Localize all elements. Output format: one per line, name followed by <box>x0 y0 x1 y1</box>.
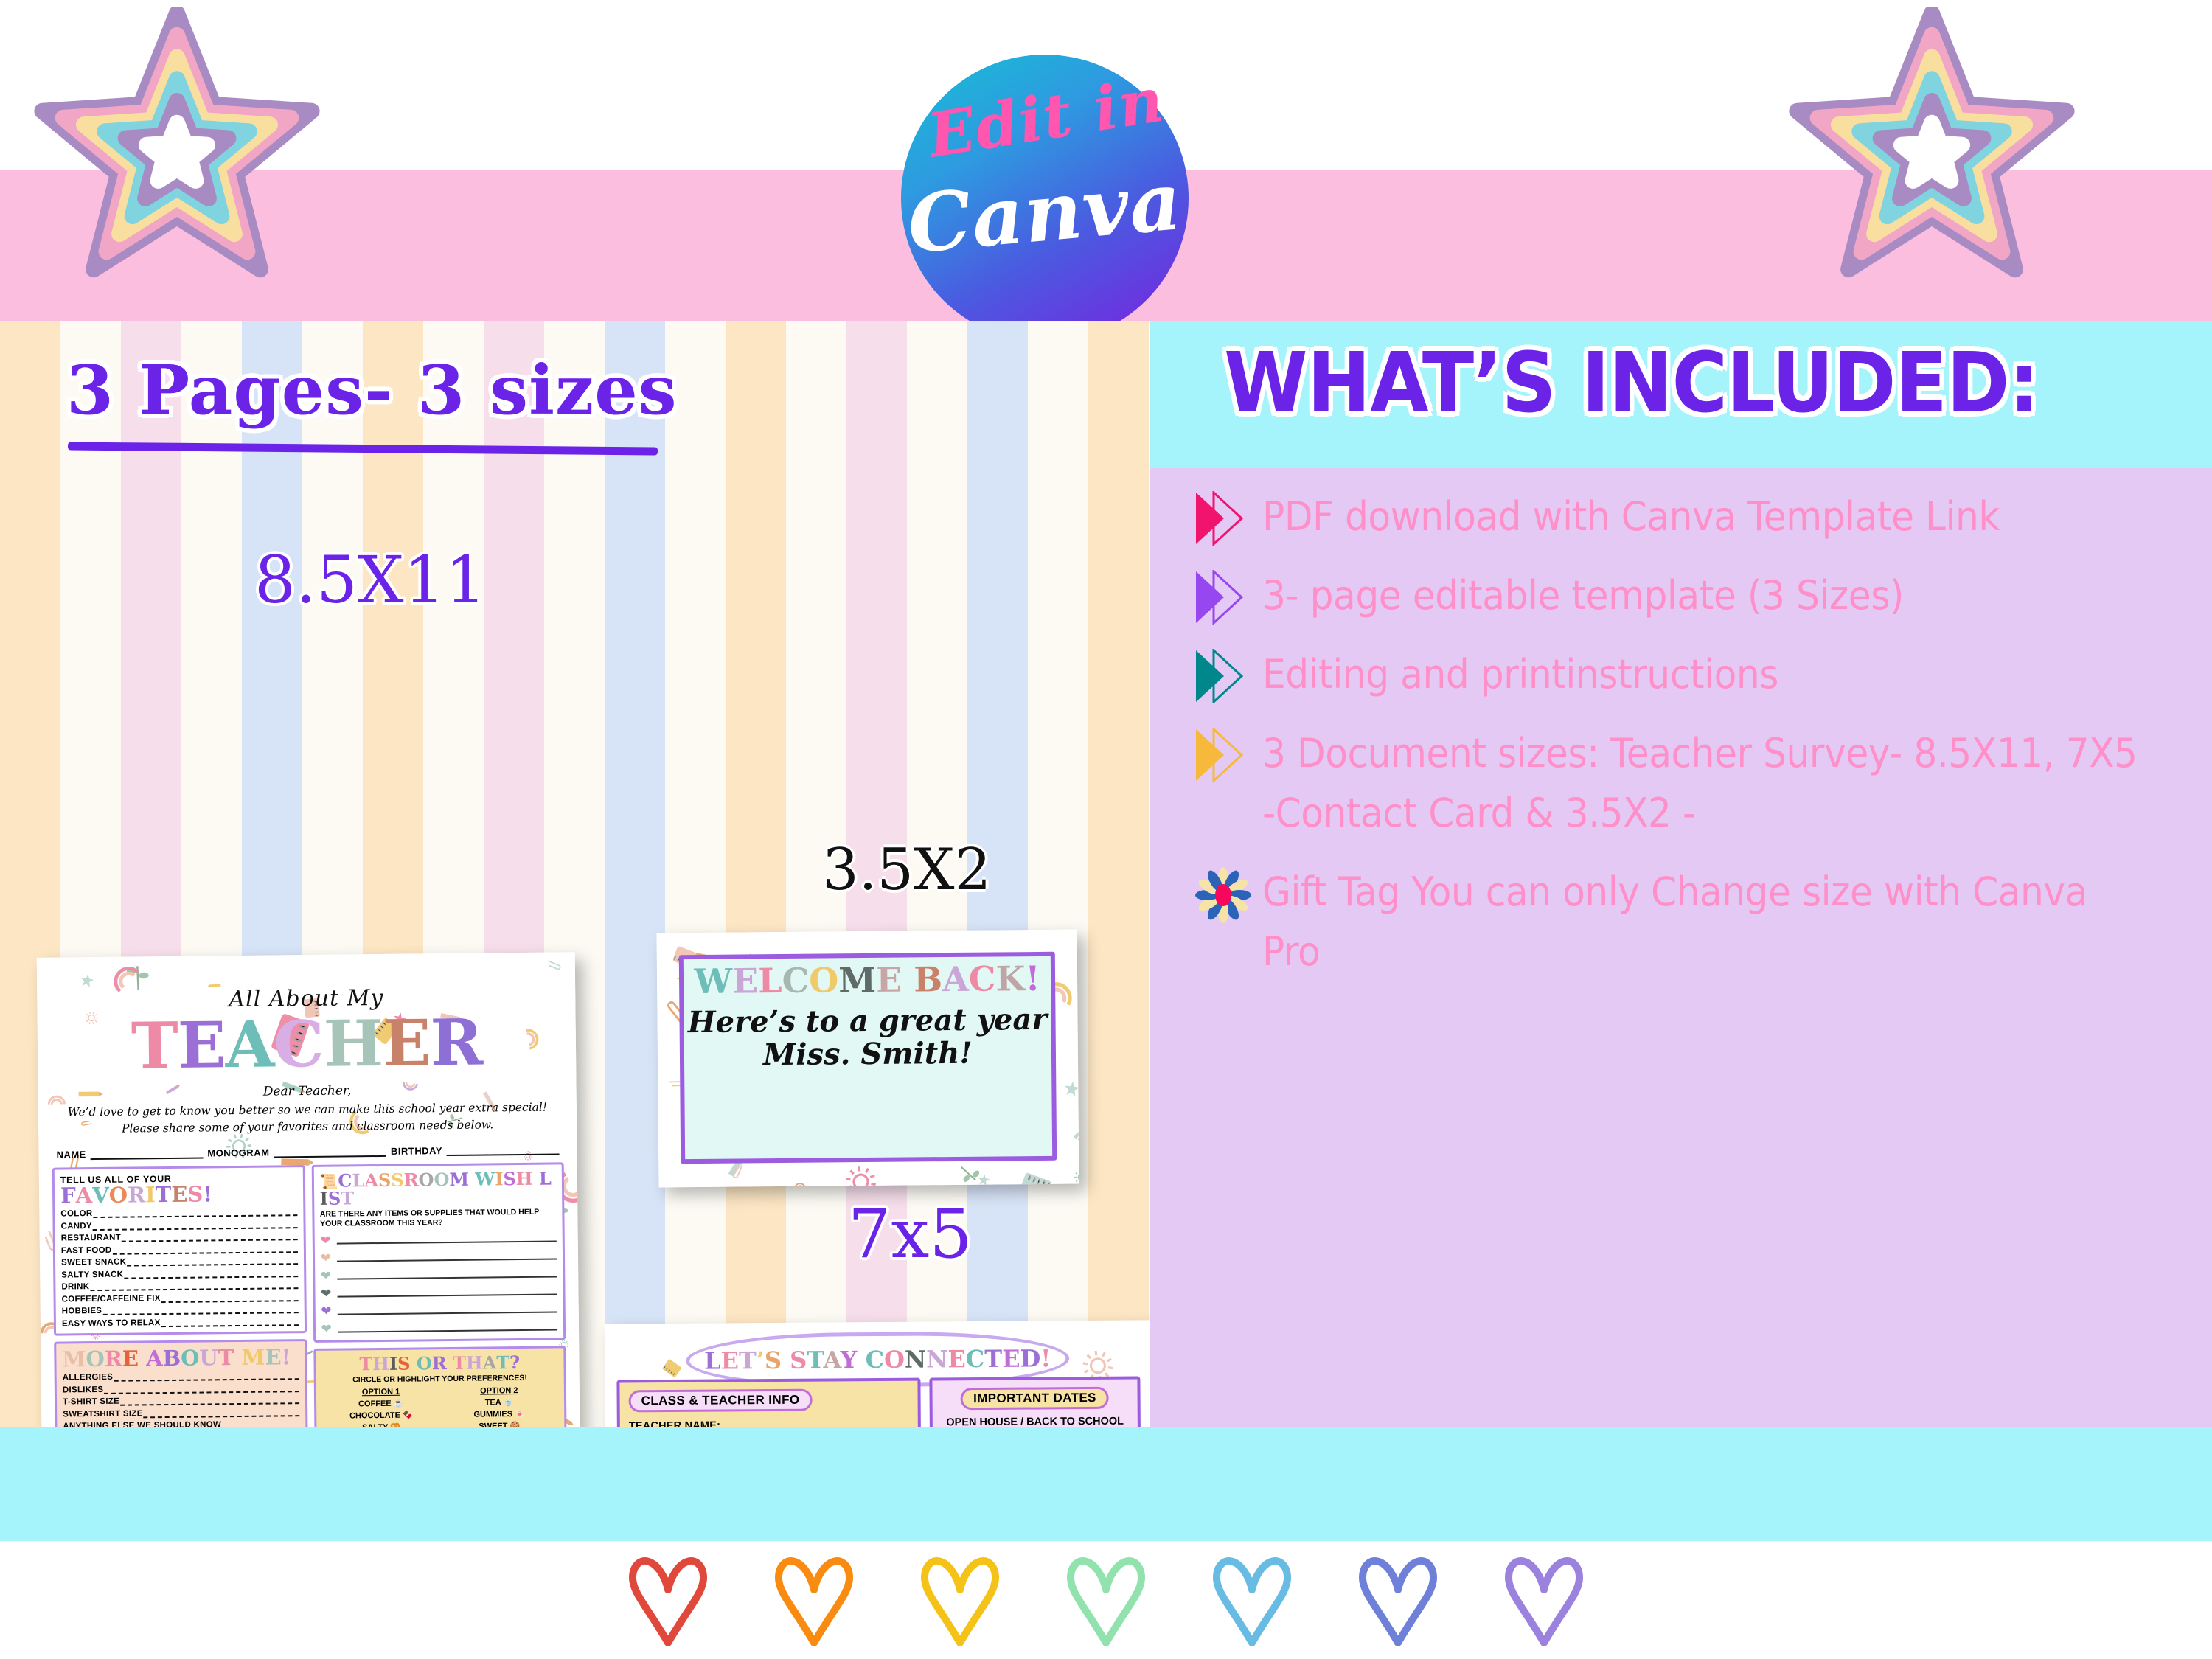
survey-big-title: TEACHER <box>51 1010 563 1079</box>
included-item-marker <box>1194 487 1262 546</box>
favorites-field: EASY WAYS TO RELAX <box>62 1317 299 1328</box>
included-item-label: 3 Document sizes: Teacher Survey- 8.5X11… <box>1262 723 2139 843</box>
double-chevron-icon <box>1194 649 1252 703</box>
layered-star-right <box>1784 7 2079 302</box>
badge-canva-text: Canva <box>903 155 1186 271</box>
flower-burst-icon <box>1194 866 1252 924</box>
included-item-marker <box>1194 723 1262 782</box>
favorites-field: FAST FOOD <box>61 1244 298 1255</box>
included-item-marker <box>1194 566 1262 625</box>
included-item-label: Gift Tag You can only Change size with C… <box>1262 862 2139 981</box>
important-dates-header: IMPORTANT DATES <box>961 1387 1109 1410</box>
more-about-field-list: ALLERGIESDISLIKEST-SHIRT SIZESWEATSHIRT … <box>63 1371 299 1427</box>
wish-list-row: ❤ <box>321 1302 557 1317</box>
page-title: 3 Pages- 3 sizes <box>66 350 678 430</box>
decor-heart-icon <box>1062 1551 1150 1649</box>
decor-heart-icon <box>624 1551 712 1649</box>
survey-name-row: NAMEMONOGRAMBIRTHDAY <box>52 1142 563 1160</box>
bottom-cyan-banner <box>0 1427 2212 1541</box>
more-about-field: SWEATSHIRT SIZE <box>63 1408 299 1419</box>
wish-list-row: ❤ <box>321 1267 557 1281</box>
survey-name-field: NAME <box>56 1149 86 1160</box>
included-item[interactable]: PDF download with Canva Template Link <box>1194 487 2205 546</box>
size-label-letter: 8.5X11 <box>254 542 487 618</box>
survey-intro-text: We’d love to get to know you better so w… <box>52 1099 563 1138</box>
double-chevron-icon <box>1194 728 1252 782</box>
this-or-that-option: GUMMIES 🍬 <box>440 1408 558 1419</box>
this-or-that-option: CHOCOLATE 🍫 <box>322 1410 440 1421</box>
bottom-heart-row <box>0 1541 2212 1659</box>
whats-included-list: PDF download with Canva Template Link 3-… <box>1194 487 2205 1001</box>
double-chevron-icon <box>1194 491 1252 546</box>
wish-list-rows: ❤❤❤❤❤❤ <box>320 1231 557 1335</box>
this-or-that-option: TEA 🍵 <box>440 1397 558 1408</box>
included-item[interactable]: Gift Tag You can only Change size with C… <box>1194 862 2205 981</box>
left-preview-panel: 3 Pages- 3 sizes 8.5X11 3.5X2 7x5 All Ab… <box>0 321 1150 1427</box>
wish-list-subtitle: ARE THERE ANY ITEMS OR SUPPLIES THAT WOU… <box>320 1207 557 1229</box>
important-date-item: OPEN HOUSE / BACK TO SCHOOL NIGHT <box>940 1416 1130 1427</box>
more-about-field: ALLERGIES <box>63 1371 299 1382</box>
welcome-card-message: Here’s to a great year Miss. Smith! <box>684 1004 1051 1073</box>
favorites-field: DRINK <box>61 1280 298 1291</box>
included-item[interactable]: 3- page editable template (3 Sizes) <box>1194 566 2205 625</box>
class-teacher-info-header: CLASS & TEACHER INFO <box>629 1389 813 1413</box>
included-item[interactable]: 3 Document sizes: Teacher Survey- 8.5X11… <box>1194 723 2205 843</box>
contact-card-title: LET’S STAY CONNECTED! <box>704 1344 1051 1374</box>
this-or-that-heading: THIS OR THAT? <box>321 1353 558 1373</box>
survey-name-field: MONOGRAM <box>207 1147 269 1158</box>
more-about-field: DISLIKES <box>63 1383 299 1394</box>
favorites-field: SWEET SNACK <box>61 1256 298 1267</box>
poster-canvas: Edit in Canva 3 Pages- 3 sizes 8.5X11 3.… <box>0 0 2212 1659</box>
survey-salutation: Dear Teacher, <box>52 1081 563 1101</box>
favorites-box: TELL US ALL OF YOUR FAVORITES! COLORCAND… <box>52 1165 307 1336</box>
class-teacher-info-panel: CLASS & TEACHER INFO TEACHER NAME:GRADE … <box>616 1378 922 1427</box>
this-or-that-subtitle: CIRCLE OR HIGHLIGHT YOUR PREFERENCES! <box>321 1373 558 1384</box>
more-about-heading: MORE ABOUT ME! <box>62 1346 299 1370</box>
wish-list-row: ❤ <box>320 1249 557 1264</box>
favorites-field: RESTAURANT <box>61 1231 298 1242</box>
contact-field: TEACHER NAME: <box>629 1419 909 1427</box>
welcome-back-card-preview[interactable]: WELCOME BACK! Here’s to a great year Mis… <box>657 930 1079 1188</box>
important-dates-items: OPEN HOUSE / BACK TO SCHOOL NIGHTPARENT-… <box>940 1416 1131 1427</box>
more-about-me-box: MORE ABOUT ME! ALLERGIESDISLIKEST-SHIRT … <box>54 1339 307 1427</box>
title-underline <box>68 442 658 456</box>
favorites-field-list: COLORCANDYRESTAURANTFAST FOODSWEET SNACK… <box>60 1207 298 1328</box>
included-item-label: Editing and printinstructions <box>1262 644 2139 704</box>
favorites-field: COLOR <box>60 1207 297 1218</box>
survey-name-field: BIRTHDAY <box>391 1145 442 1157</box>
favorites-field: HOBBIES <box>62 1304 299 1315</box>
wish-list-heading: 📜CLASSROOM WISH LIST <box>319 1169 556 1207</box>
favorites-field: COFFEE/CAFFEINE FIX <box>62 1293 299 1304</box>
included-item-label: 3- page editable template (3 Sizes) <box>1262 566 2139 625</box>
contact-card-preview[interactable]: LET’S STAY CONNECTED! CLASS & TEACHER IN… <box>605 1320 1150 1427</box>
teacher-survey-preview[interactable]: All About My TEACHER Dear Teacher, We’d … <box>37 952 583 1427</box>
decor-heart-icon <box>1500 1551 1588 1649</box>
size-label-card: 7x5 <box>848 1194 973 1273</box>
size-label-tag: 3.5X2 <box>822 837 991 903</box>
this-or-that-option: SALTY 🥨 <box>322 1422 440 1427</box>
included-item-label: PDF download with Canva Template Link <box>1262 487 2139 546</box>
favorites-heading: FAVORITES! <box>60 1183 297 1206</box>
favorites-field: SALTY SNACK <box>61 1268 298 1279</box>
favorites-field: CANDY <box>60 1220 297 1231</box>
this-or-that-columns: OPTION 1COFFEE ☕CHOCOLATE 🍫SALTY 🥨AMAZON… <box>321 1383 559 1427</box>
included-item[interactable]: Editing and printinstructions <box>1194 644 2205 704</box>
included-item-marker <box>1194 862 1262 924</box>
included-item-marker <box>1194 644 1262 703</box>
decor-heart-icon <box>916 1551 1004 1649</box>
wish-list-row: ❤ <box>320 1231 557 1246</box>
edit-in-canva-badge[interactable]: Edit in Canva <box>901 55 1189 342</box>
this-or-that-option: COFFEE ☕ <box>322 1398 440 1409</box>
double-chevron-icon <box>1194 570 1252 625</box>
class-teacher-info-fields: TEACHER NAME:GRADE / SUBJECT:ROOM NUMBER… <box>629 1419 910 1427</box>
decor-heart-icon <box>770 1551 858 1649</box>
more-about-field: T-SHIRT SIZE <box>63 1395 299 1406</box>
this-or-that-box: THIS OR THAT? CIRCLE OR HIGHLIGHT YOUR P… <box>313 1346 567 1427</box>
badge-edit-in-text: Edit in <box>914 63 1180 173</box>
wish-list-row: ❤ <box>321 1284 557 1299</box>
wish-list-row: ❤ <box>321 1320 557 1335</box>
decor-heart-icon <box>1208 1551 1296 1649</box>
welcome-card-title: WELCOME BACK! <box>694 961 1040 999</box>
layered-star-left <box>29 7 324 302</box>
decor-heart-icon <box>1354 1551 1442 1649</box>
more-about-field: ANYTHING ELSE WE SHOULD KNOW <box>63 1419 299 1427</box>
important-dates-panel: IMPORTANT DATES OPEN HOUSE / BACK TO SCH… <box>929 1377 1141 1427</box>
this-or-that-option: SWEET 🍪 <box>440 1420 558 1427</box>
wish-list-box: 📜CLASSROOM WISH LIST ARE THERE ANY ITEMS… <box>311 1162 566 1343</box>
whats-included-heading: WHAT’S INCLUDED: <box>1224 335 2126 431</box>
